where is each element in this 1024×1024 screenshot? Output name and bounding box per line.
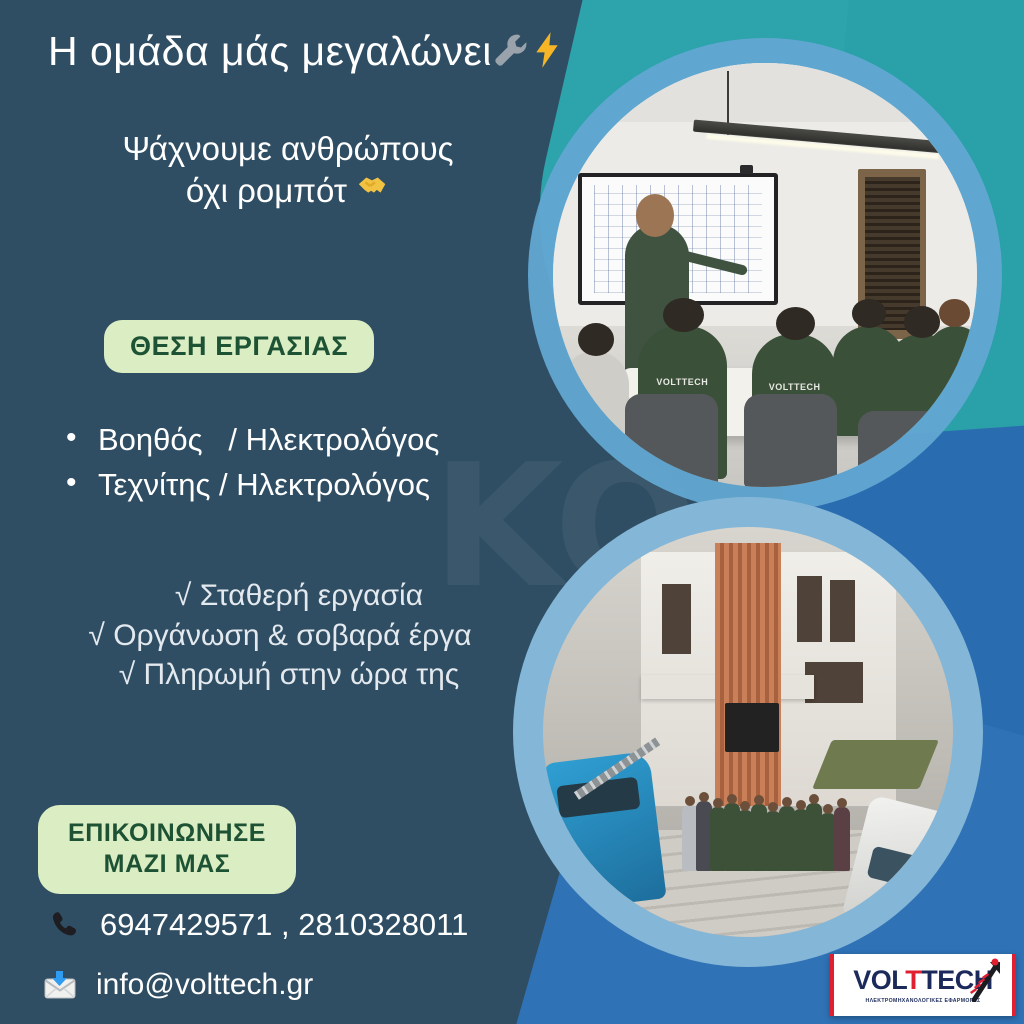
bottom-photo-team-building — [543, 527, 953, 937]
contact-us-badge: ΕΠΙΚΟΙΝΩΝΗΣΕ ΜΑΖΙ ΜΑΣ — [38, 805, 296, 894]
high-voltage-icon — [530, 31, 564, 79]
uniform-logo: VOLTTECH — [647, 378, 718, 387]
subheadline-line-2-wrap: όχι ρομπότ — [78, 170, 498, 212]
list-item: Τεχνίτης / Ηλεκτρολόγος — [58, 463, 439, 508]
logo-word-part-2: T — [905, 965, 921, 995]
uniform-logo: VOLTTECH — [761, 383, 829, 392]
building-scene — [543, 527, 953, 937]
benefits-list: √ Σταθερή εργασία √ Οργάνωση & σοβαρά έρ… — [30, 576, 530, 695]
job-position-badge: ΘΕΣΗ ΕΡΓΑΣΙΑΣ — [104, 320, 374, 373]
top-photo-meeting-room: VOLTTECH VOLTTECH — [553, 63, 977, 487]
handshake-icon — [356, 172, 390, 209]
list-item: Βοηθός / Ηλεκτρολόγος — [58, 418, 439, 463]
logo-word-part-1: VOL — [853, 965, 905, 995]
headline: Η ομάδα μάς μεγαλώνει — [48, 28, 668, 79]
attendee-head — [939, 299, 970, 326]
email-address: info@volttech.gr — [96, 968, 313, 1002]
building-window-4 — [805, 662, 862, 703]
attendee-head — [578, 323, 615, 356]
logo-arrow-icon — [968, 958, 1002, 1002]
benefit-item: √ Πληρωμή στην ώρα της — [30, 655, 530, 695]
phone-row[interactable]: 6947429571 , 2810328011 — [44, 905, 468, 945]
building-window-1 — [662, 584, 691, 654]
telephone-receiver-icon — [44, 905, 84, 945]
attendee-head — [852, 299, 887, 328]
team-group — [682, 765, 854, 872]
contact-badge-line-1: ΕΠΙΚΟΙΝΩΝΗΣΕ — [68, 818, 266, 849]
white-vehicle — [841, 794, 953, 937]
building-volttech-sign — [725, 703, 778, 752]
office-chair-3 — [858, 411, 943, 487]
office-chair-1 — [625, 394, 718, 487]
presenter-head — [636, 194, 674, 236]
attendee-1 — [561, 351, 629, 478]
positions-list: Βοηθός / Ηλεκτρολόγος Τεχνίτης / Ηλεκτρο… — [58, 418, 439, 508]
building-window-3 — [830, 580, 855, 642]
building-window-2 — [797, 576, 822, 642]
vehicle-windshield — [867, 846, 946, 895]
subheadline: Ψάχνουμε ανθρώπους όχι ρομπότ — [78, 128, 498, 212]
subheadline-line-2: όχι ρομπότ — [186, 172, 347, 209]
headline-text: Η ομάδα μάς μεγαλώνει — [48, 28, 492, 74]
job-ad-poster: KQ VOLTTECH VOLTTECH — [0, 0, 1024, 1024]
contact-badge-line-2: ΜΑΖΙ ΜΑΣ — [68, 849, 266, 880]
email-row[interactable]: info@volttech.gr — [40, 965, 313, 1005]
office-chair-2 — [744, 394, 837, 487]
screen-camera-icon — [740, 165, 753, 174]
envelope-with-arrow-icon — [40, 965, 80, 1005]
phone-number: 6947429571 , 2810328011 — [100, 907, 468, 943]
wrench-icon — [492, 31, 530, 79]
subheadline-line-1: Ψάχνουμε ανθρώπους — [78, 128, 498, 170]
person — [834, 807, 850, 871]
benefit-item: √ Οργάνωση & σοβαρά έργα — [30, 616, 530, 656]
meeting-room-scene: VOLTTECH VOLTTECH — [553, 63, 977, 487]
attendee-head — [663, 298, 704, 332]
volttech-logo-card: VOLTTECH ΗΛΕΚΤΡΟΜΗΧΑΝΟΛΟΓΙΚΕΣ ΕΦΑΡΜΟΓΕΣ — [830, 954, 1016, 1016]
logo-tagline: ΗΛΕΚΤΡΟΜΗΧΑΝΟΛΟΓΙΚΕΣ ΕΦΑΡΜΟΓΕΣ — [866, 998, 981, 1004]
attendee-head — [776, 307, 815, 340]
benefit-item: √ Σταθερή εργασία — [30, 576, 530, 616]
